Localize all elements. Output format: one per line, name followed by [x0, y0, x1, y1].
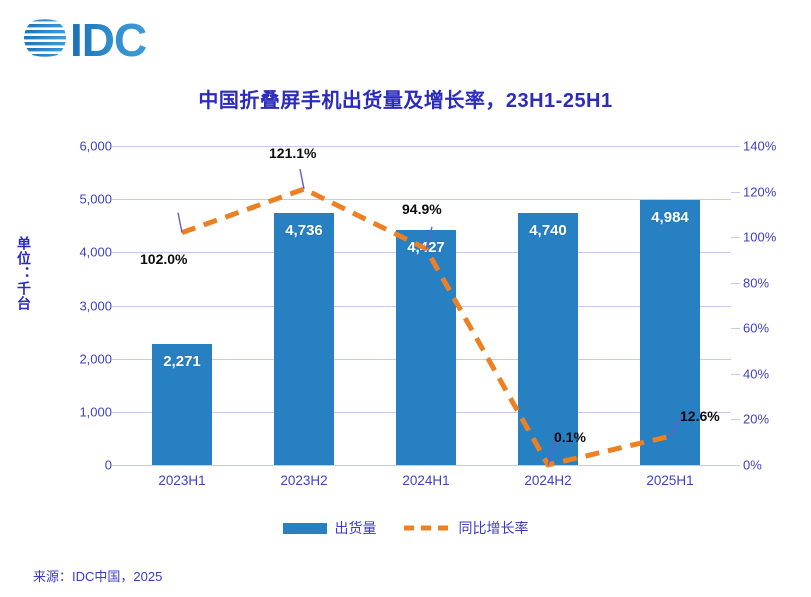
y-axis-title: 单位：千台: [14, 236, 34, 311]
y-tick-mark-right: [731, 419, 740, 420]
x-tick-label-2025H1: 2025H1: [646, 473, 693, 488]
y-tick-label-right: 40%: [743, 366, 769, 381]
y-tick-mark-left: [112, 252, 121, 253]
legend-item-shipments[interactable]: 出货量: [283, 518, 377, 538]
y-tick-mark-right: [731, 146, 740, 147]
y-tick-label-left: 0: [105, 458, 112, 473]
growth-rate-label-2023H1: 102.0%: [140, 251, 187, 267]
y-tick-label-right: 20%: [743, 412, 769, 427]
leader-line: [426, 227, 432, 249]
legend-label-shipments: 出货量: [335, 518, 377, 538]
y-tick-mark-left: [112, 412, 121, 413]
growth-rate-label-2025H1: 12.6%: [680, 408, 720, 424]
y-tick-label-left: 5,000: [79, 192, 112, 207]
y-tick-mark-left: [112, 146, 121, 147]
y-tick-mark-right: [731, 283, 740, 284]
y-tick-label-right: 140%: [743, 139, 776, 154]
growth-rate-line: [182, 189, 670, 465]
page-title: 中国折叠屏手机出货量及增长率，23H1-25H1: [0, 84, 811, 113]
x-tick-label-2024H2: 2024H2: [524, 473, 571, 488]
y-tick-mark-left: [112, 465, 121, 466]
y-tick-label-left: 2,000: [79, 351, 112, 366]
x-tick-label-2023H2: 2023H2: [280, 473, 327, 488]
x-tick-label-2024H1: 2024H1: [402, 473, 449, 488]
bar-swatch-icon: [283, 523, 327, 534]
y-tick-label-right: 60%: [743, 321, 769, 336]
source-note: 来源：IDC中国，2025: [33, 566, 162, 585]
y-tick-mark-left: [112, 306, 121, 307]
growth-rate-label-2024H1: 94.9%: [402, 201, 442, 217]
y-tick-label-left: 1,000: [79, 404, 112, 419]
growth-rate-label-2023H2: 121.1%: [269, 145, 316, 161]
y-tick-mark-right: [731, 237, 740, 238]
gridline: [121, 465, 731, 466]
leader-line: [178, 213, 182, 233]
chart-plot-area: 2,2714,7364,4274,7404,984 102.0%121.1%94…: [121, 146, 731, 465]
dashed-line-swatch-icon: [403, 519, 451, 537]
y-tick-mark-right: [731, 328, 740, 329]
y-tick-label-left: 4,000: [79, 245, 112, 260]
y-tick-label-left: 3,000: [79, 298, 112, 313]
legend-label-growth-rate: 同比增长率: [459, 518, 529, 538]
line-series: [121, 146, 731, 465]
y-tick-label-right: 80%: [743, 275, 769, 290]
y-tick-mark-right: [731, 374, 740, 375]
leader-line: [300, 169, 304, 189]
y-tick-mark-left: [112, 199, 121, 200]
idc-logo: IDC: [22, 12, 182, 64]
growth-rate-label-2024H2: 0.1%: [554, 429, 586, 445]
y-tick-mark-right: [731, 192, 740, 193]
y-tick-label-right: 0%: [743, 458, 762, 473]
y-tick-label-right: 100%: [743, 230, 776, 245]
chart-legend: 出货量 同比增长率: [0, 518, 811, 538]
globe-icon: [22, 14, 75, 58]
y-tick-label-right: 120%: [743, 184, 776, 199]
legend-item-growth-rate[interactable]: 同比增长率: [403, 518, 529, 538]
svg-text:IDC: IDC: [70, 14, 146, 64]
y-tick-label-left: 6,000: [79, 139, 112, 154]
x-tick-label-2023H1: 2023H1: [158, 473, 205, 488]
y-tick-mark-left: [112, 359, 121, 360]
y-tick-mark-right: [731, 465, 740, 466]
